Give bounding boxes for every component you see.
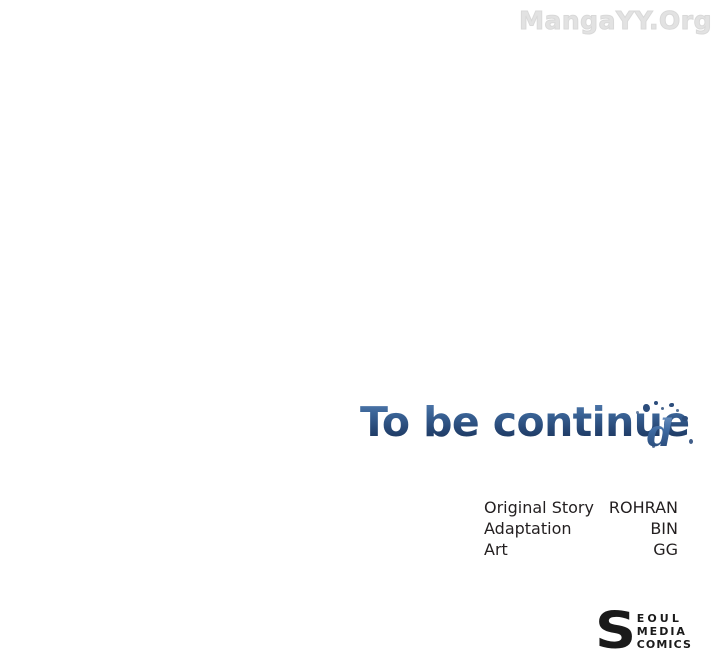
publisher-logo: S EOUL MEDIA COMICS [595, 609, 692, 654]
credit-row: Adaptation BIN [484, 518, 678, 539]
credit-name: ROHRAN [609, 497, 678, 518]
credit-name: BIN [650, 518, 678, 539]
to-be-continued-trailing-letter: d [647, 413, 673, 453]
credit-role: Art [484, 539, 508, 560]
credit-role: Original Story [484, 497, 594, 518]
credit-row: Original Story ROHRAN [484, 497, 678, 518]
publisher-logo-monogram: S [595, 609, 634, 654]
credits-block: Original Story ROHRAN Adaptation BIN Art… [484, 497, 678, 560]
to-be-continued-banner: To be continue d [360, 396, 690, 456]
credit-name: GG [653, 539, 678, 560]
ink-splash-icon [689, 439, 693, 444]
publisher-logo-line-1: EOUL [637, 612, 692, 625]
site-watermark: MangaYY.Org [519, 4, 712, 38]
credit-role: Adaptation [484, 518, 572, 539]
publisher-logo-wordmark: EOUL MEDIA COMICS [637, 612, 692, 651]
publisher-logo-line-3: COMICS [637, 638, 692, 651]
to-be-continued-text: To be continue [360, 396, 690, 448]
comic-end-page: MangaYY.Org To be continue d Original St… [0, 0, 720, 664]
credit-row: Art GG [484, 539, 678, 560]
publisher-logo-line-2: MEDIA [637, 625, 692, 638]
